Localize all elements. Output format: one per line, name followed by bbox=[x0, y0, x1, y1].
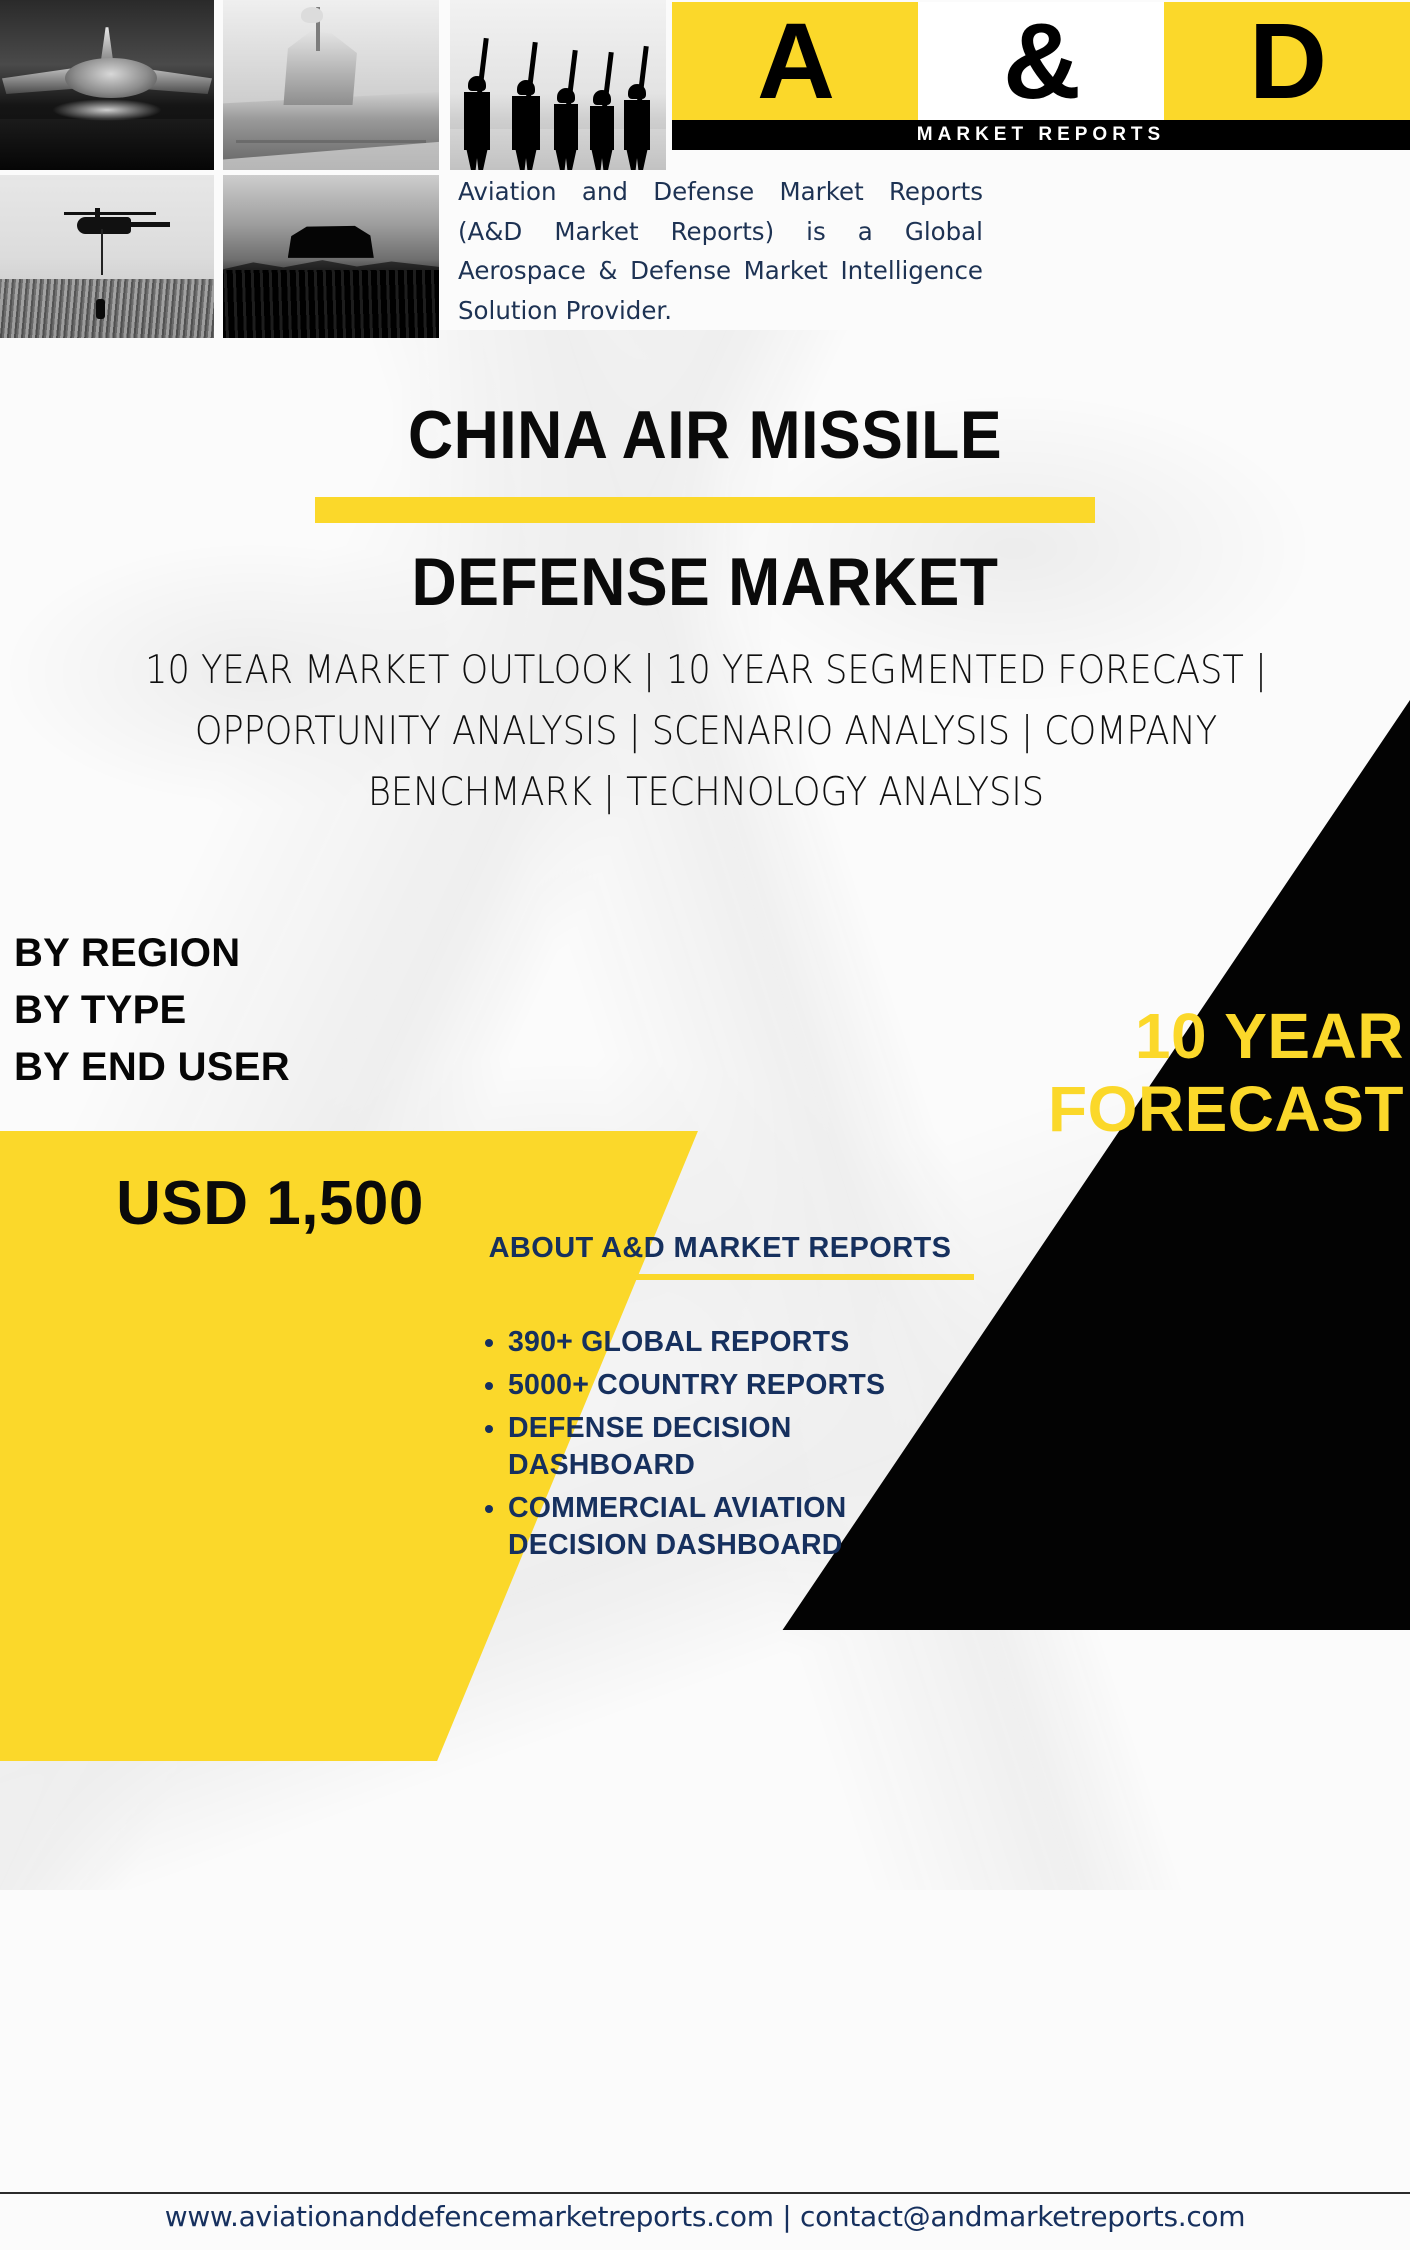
logo-ampersand: & bbox=[918, 2, 1164, 120]
fighter-jet-photo bbox=[0, 0, 214, 170]
title-yellow-rule bbox=[315, 497, 1095, 523]
about-bullet-item: 5000+ COUNTRY REPORTS bbox=[508, 1367, 980, 1404]
forecast-badge-line-1: 10 YEAR bbox=[880, 1000, 1404, 1073]
forecast-badge-line-2: FORECAST bbox=[880, 1073, 1404, 1146]
soldiers-silhouette-photo bbox=[450, 0, 666, 170]
price-label: USD 1,500 bbox=[0, 1168, 540, 1239]
aircraft-carrier-photo bbox=[223, 0, 439, 170]
company-intro-text: Aviation and Defense Market Reports (A&D… bbox=[458, 172, 983, 331]
about-bullet-item: DEFENSE DECISION DASHBOARD bbox=[508, 1410, 980, 1484]
footer-divider bbox=[0, 2192, 1410, 2194]
report-title-block: CHINA AIR MISSILE DEFENSE MARKET bbox=[0, 400, 1410, 619]
and-market-reports-logo: A & D MARKET REPORTS bbox=[672, 2, 1410, 150]
poster-canvas: A & D MARKET REPORTS Aviation and Defens… bbox=[0, 0, 1410, 2250]
about-heading: ABOUT A&D MARKET REPORTS bbox=[460, 1232, 980, 1265]
footer-contact: www.aviationanddefencemarketreports.com … bbox=[0, 2200, 1410, 2233]
logo-letter-a: A bbox=[672, 2, 918, 120]
about-bullet-list: 390+ GLOBAL REPORTS 5000+ COUNTRY REPORT… bbox=[508, 1324, 980, 1564]
report-features-text: 10 YEAR MARKET OUTLOOK | 10 YEAR SEGMENT… bbox=[101, 640, 1311, 824]
segmentation-item-type: BY TYPE bbox=[14, 982, 614, 1039]
about-yellow-rule bbox=[464, 1274, 974, 1280]
report-title-line-1: CHINA AIR MISSILE bbox=[56, 400, 1353, 471]
about-bullet-item: COMMERCIAL AVIATION DECISION DASHBOARD bbox=[508, 1490, 980, 1564]
about-section: ABOUT A&D MARKET REPORTS 390+ GLOBAL REP… bbox=[460, 1232, 980, 1570]
logo-tagline-bar: MARKET REPORTS bbox=[672, 120, 1410, 150]
helicopter-photo bbox=[0, 175, 214, 338]
logo-tagline: MARKET REPORTS bbox=[917, 124, 1165, 146]
logo-letter-d: D bbox=[1164, 2, 1410, 120]
report-title-line-2: DEFENSE MARKET bbox=[56, 547, 1353, 618]
segmentation-list: BY REGION BY TYPE BY END USER bbox=[14, 925, 614, 1095]
about-bullet-item: 390+ GLOBAL REPORTS bbox=[508, 1324, 980, 1361]
forecast-badge: 10 YEAR FORECAST bbox=[880, 1000, 1410, 1146]
armored-vehicle-photo bbox=[223, 175, 439, 338]
segmentation-item-region: BY REGION bbox=[14, 925, 614, 982]
segmentation-item-enduser: BY END USER bbox=[14, 1039, 614, 1096]
